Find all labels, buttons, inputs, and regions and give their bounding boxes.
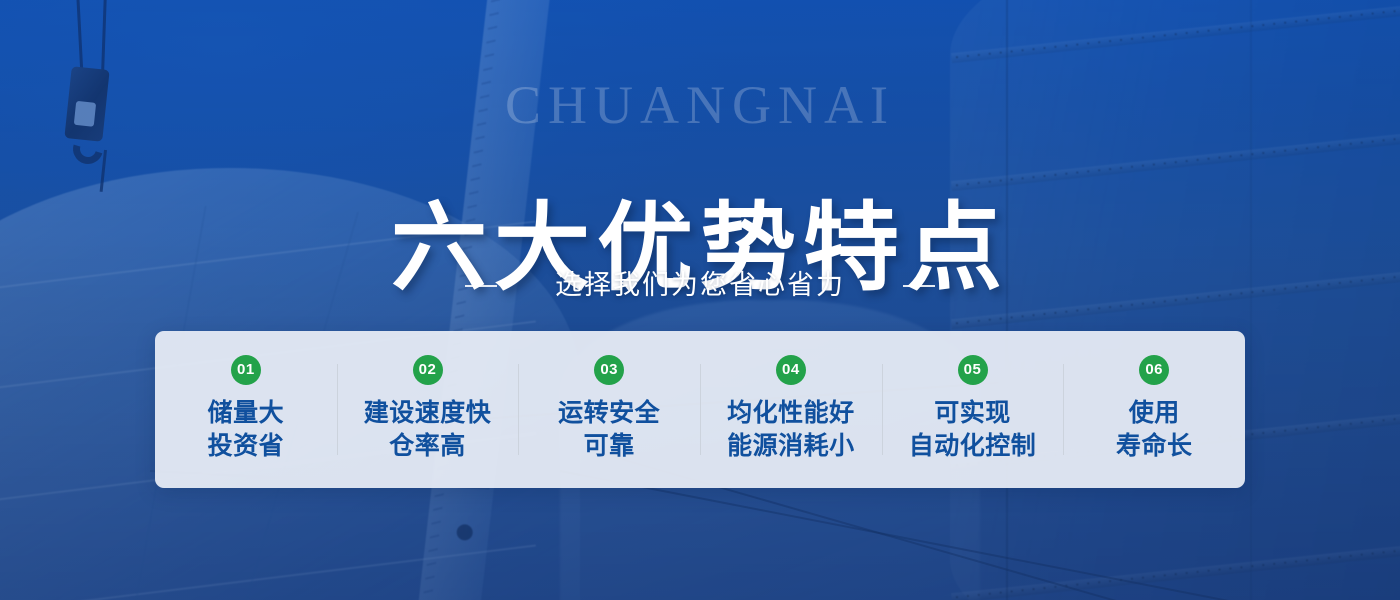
feature-label-06-line2: 寿命长: [1116, 430, 1193, 463]
feature-label-05-line2: 自动化控制: [909, 430, 1037, 463]
banner-content: CHUANGNAI 六大优势特点 选择我们为您省心省力 01 储量大 投资省 0…: [0, 0, 1400, 600]
six-advantages-banner: CHUANGNAI 六大优势特点 选择我们为您省心省力 01 储量大 投资省 0…: [0, 0, 1400, 600]
feature-number-badge-03: 03: [594, 355, 624, 385]
feature-number-badge-01: 01: [231, 355, 261, 385]
feature-label-03-line1: 运转安全: [558, 397, 660, 430]
subtitle-dash-right-icon: [903, 285, 935, 287]
feature-item-04[interactable]: 04 均化性能好 能源消耗小: [700, 331, 882, 488]
feature-label-01-line2: 投资省: [208, 430, 285, 463]
feature-item-06[interactable]: 06 使用 寿命长: [1063, 331, 1245, 488]
feature-number-badge-06: 06: [1139, 355, 1169, 385]
feature-label-03-line2: 可靠: [558, 430, 660, 463]
feature-label-01-line1: 储量大: [208, 397, 285, 430]
feature-item-02[interactable]: 02 建设速度快 仓率高: [337, 331, 519, 488]
feature-number-badge-02: 02: [413, 355, 443, 385]
feature-item-05[interactable]: 05 可实现 自动化控制: [882, 331, 1064, 488]
feature-label-04-line1: 均化性能好: [727, 397, 855, 430]
subtitle-row: 选择我们为您省心省力: [0, 272, 1400, 299]
feature-label-06-line1: 使用: [1116, 397, 1193, 430]
feature-number-badge-04: 04: [776, 355, 806, 385]
feature-label-05-line1: 可实现: [909, 397, 1037, 430]
feature-item-01[interactable]: 01 储量大 投资省: [155, 331, 337, 488]
subtitle-dash-left-icon: [465, 285, 497, 287]
feature-number-badge-05: 05: [958, 355, 988, 385]
page-subtitle: 选择我们为您省心省力: [555, 272, 845, 299]
feature-item-03[interactable]: 03 运转安全 可靠: [518, 331, 700, 488]
watermark-text: CHUANGNAI: [0, 78, 1400, 132]
feature-label-04-line2: 能源消耗小: [727, 430, 855, 463]
feature-panel: 01 储量大 投资省 02 建设速度快 仓率高 03 运转安全 可靠: [155, 331, 1245, 488]
feature-label-02-line1: 建设速度快: [364, 397, 492, 430]
feature-label-02-line2: 仓率高: [364, 430, 492, 463]
